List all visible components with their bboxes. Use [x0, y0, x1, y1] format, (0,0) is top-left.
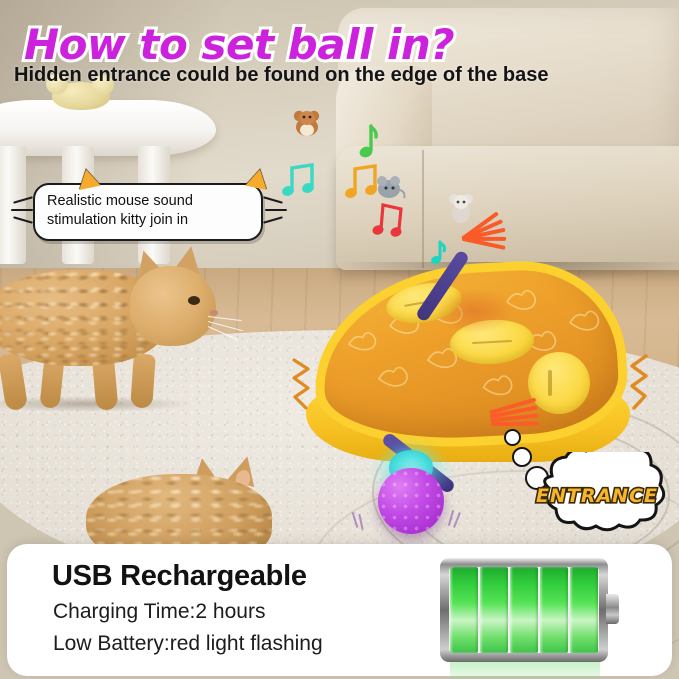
- toy-mat-hole-slit: [548, 370, 552, 396]
- thought-bubble-dot: [504, 429, 521, 446]
- feather-motion-blur: [432, 288, 516, 334]
- entrance-thought-bubble: ENTRANCE: [520, 452, 674, 540]
- side-table-leg: [0, 146, 26, 264]
- page-subtitle: Hidden entrance could be found on the ed…: [14, 64, 548, 87]
- music-note-red: [372, 199, 408, 239]
- cat-nose: [210, 310, 218, 316]
- sofa-seam: [422, 150, 424, 268]
- usb-rechargeable-panel: USB Rechargeable Charging Time:2 hours L…: [7, 544, 672, 676]
- music-note-green: [352, 123, 378, 163]
- cat-leg: [130, 353, 156, 408]
- interactive-ball: [378, 468, 444, 534]
- mouse-icon-gray: [374, 174, 408, 202]
- battery-terminal: [606, 594, 619, 624]
- low-battery-text: Low Battery:red light flashing: [53, 632, 323, 656]
- vibration-zigzag-right: [624, 354, 654, 412]
- whisker-icon: [265, 209, 287, 211]
- music-note-teal: [281, 162, 321, 198]
- battery-cell: [480, 567, 508, 653]
- mouse-icon-brown: [290, 105, 324, 139]
- battery-cell: [570, 567, 598, 653]
- battery-cell: [540, 567, 568, 653]
- cat-ear-icon: [75, 167, 100, 190]
- whisker-icon: [11, 209, 33, 211]
- battery-reflection: [450, 662, 600, 679]
- charging-time-text: Charging Time:2 hours: [53, 600, 265, 624]
- ball-texture: [378, 468, 444, 534]
- mouse-icon-white: [446, 190, 476, 226]
- page-title: How to set ball in?: [24, 20, 454, 69]
- entrance-label: ENTRANCE: [520, 452, 674, 540]
- side-table-top: [0, 100, 216, 156]
- callout-text: Realistic mouse sound stimulation kitty …: [47, 192, 255, 230]
- feature-callout-box: Realistic mouse sound stimulation kitty …: [33, 183, 263, 241]
- battery-icon: [440, 558, 618, 662]
- cat-eye: [188, 296, 200, 305]
- panel-title: USB Rechargeable: [52, 560, 307, 593]
- vibration-zigzag-left: [288, 358, 316, 412]
- cat-ear-icon: [245, 167, 270, 190]
- callout-line-1: Realistic mouse sound: [47, 192, 255, 211]
- battery-cells: [449, 567, 599, 653]
- cat-walking-left: [0, 258, 232, 408]
- battery-cell: [450, 567, 478, 653]
- battery-cell: [510, 567, 538, 653]
- product-infographic: ENTRANCE How to set ball in? Hidden entr…: [0, 0, 679, 679]
- battery-casing: [440, 558, 608, 662]
- callout-line-2: stimulation kitty join in: [47, 211, 255, 230]
- cat-head: [130, 266, 216, 346]
- music-note-teal-small: [428, 240, 446, 266]
